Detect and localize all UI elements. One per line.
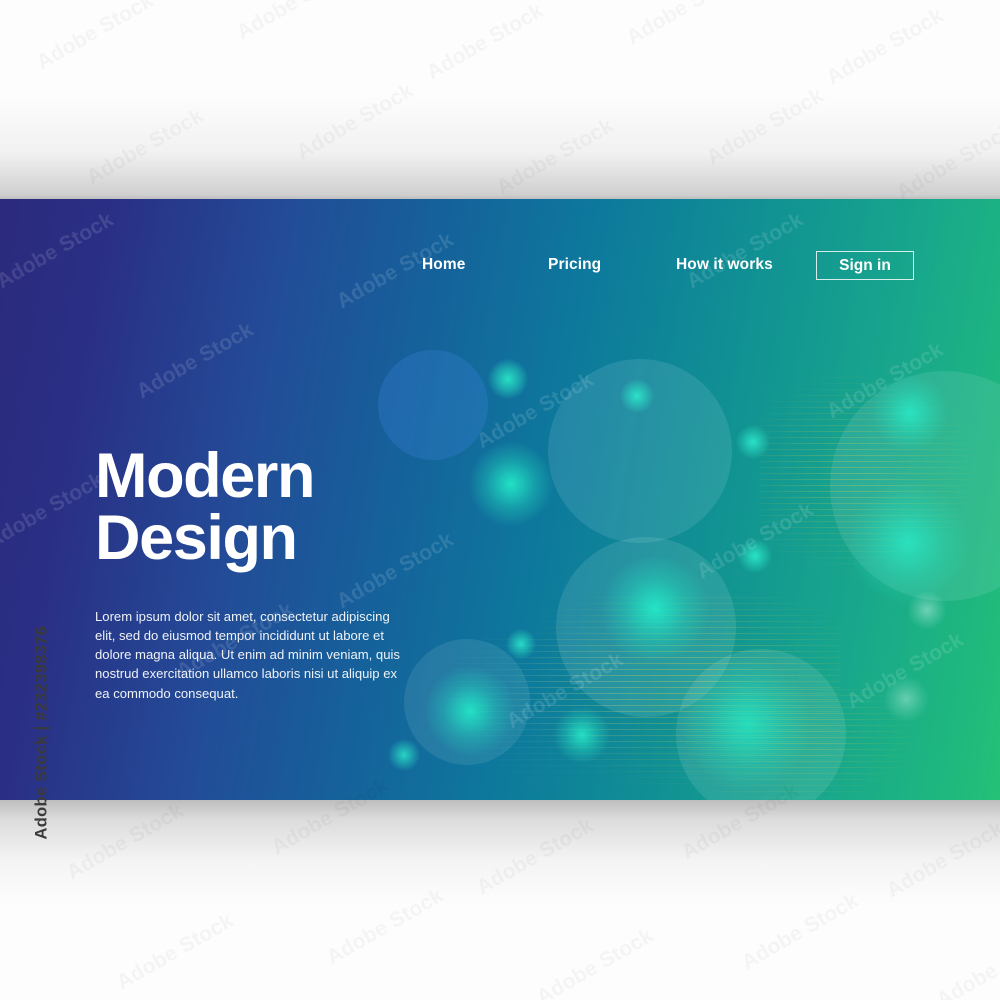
decorative-orb-2 — [620, 379, 654, 413]
decorative-orb-5 — [872, 375, 948, 451]
bottom-shadow-band — [0, 800, 1000, 905]
decorative-orb-6 — [738, 539, 772, 573]
page-title: Modern Design — [95, 445, 415, 570]
hero-copy: Modern Design Lorem ipsum dolor sit amet… — [95, 445, 415, 703]
watermark-tile: Adobe Stock — [823, 338, 948, 424]
decorative-orb-9 — [506, 629, 536, 659]
decorative-orb-13 — [682, 659, 812, 789]
hero-paragraph: Lorem ipsum dolor sit amet, consectetur … — [95, 607, 405, 703]
decorative-orb-1 — [488, 359, 528, 399]
hero-banner: Home Pricing How it works Sign in Modern… — [0, 199, 1000, 800]
decorative-stripes-right — [760, 377, 975, 572]
watermark-tile: Adobe Stock — [533, 924, 658, 1000]
decorative-disc-bottom-left — [404, 639, 530, 765]
decorative-orb-10 — [424, 665, 516, 757]
decorative-orb-12 — [554, 707, 610, 763]
stock-id-watermark: Adobe Stock | #232398376 — [33, 580, 52, 840]
watermark-tile: Adobe Stock — [0, 208, 118, 294]
nav-item-how-it-works[interactable]: How it works — [676, 256, 773, 274]
sign-in-button[interactable]: Sign in — [816, 251, 914, 280]
decorative-disc-large-right — [830, 371, 1000, 601]
decorative-orb-14 — [908, 591, 946, 629]
top-shadow-band — [0, 96, 1000, 199]
watermark-tile: Adobe Stock — [843, 628, 968, 714]
watermark-tile: Adobe Stock — [693, 498, 818, 584]
nav-item-pricing[interactable]: Pricing — [548, 256, 601, 274]
decorative-disc-large-center — [548, 359, 732, 543]
watermark-tile: Adobe Stock — [473, 368, 598, 454]
watermark-tile: Adobe Stock — [503, 648, 628, 734]
watermark-tile: Adobe Stock — [233, 0, 358, 45]
decorative-stripes-bottom-right — [686, 689, 916, 800]
decorative-disc-lower-right — [676, 649, 846, 800]
decorative-disc-blue — [378, 350, 488, 460]
watermark-tile: Adobe Stock — [0, 468, 108, 554]
decorative-orb-15 — [884, 677, 928, 721]
watermark-tile: Adobe Stock — [683, 208, 808, 294]
watermark-tile: Adobe Stock — [33, 0, 158, 75]
watermark-tile: Adobe Stock — [113, 909, 238, 995]
page-canvas: Home Pricing How it works Sign in Modern… — [0, 0, 1000, 1000]
decorative-stripes-center — [510, 597, 840, 787]
decorative-stripes-lowerleft — [430, 639, 640, 789]
watermark-tile: Adobe Stock — [623, 0, 748, 50]
headline-line-1: Modern — [95, 441, 314, 511]
decorative-disc-lower-mid — [556, 537, 736, 717]
watermark-tile: Adobe Stock — [823, 4, 948, 90]
nav-item-home[interactable]: Home — [422, 256, 465, 274]
decorative-orb-3 — [468, 441, 554, 527]
decorative-orb-8 — [600, 554, 710, 664]
watermark-tile: Adobe Stock — [423, 0, 548, 85]
watermark-tile: Adobe Stock — [133, 318, 258, 404]
decorative-orb-7 — [848, 483, 968, 603]
decorative-orb-11 — [388, 739, 420, 771]
headline-line-2: Design — [95, 507, 415, 569]
watermark-tile: Adobe Stock — [933, 927, 1000, 1000]
decorative-orb-4 — [736, 425, 770, 459]
